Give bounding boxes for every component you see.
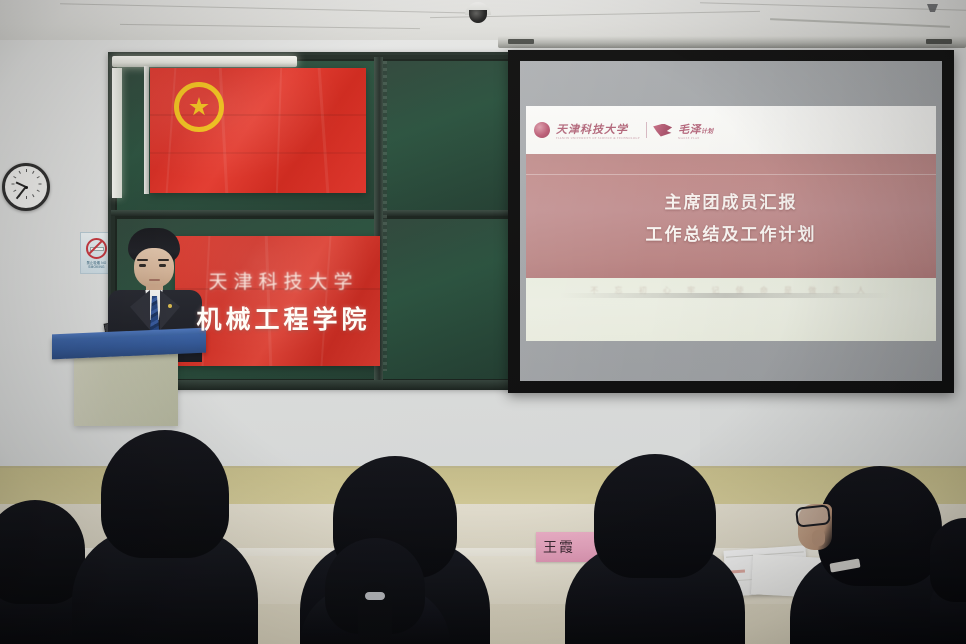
wall-clock [2,163,50,211]
flag-fold [318,68,330,193]
presenter-brow [137,259,148,261]
fluorescent-tube-light-vertical [112,68,122,198]
hair-tie [365,592,385,600]
clock-center-pin [25,186,28,189]
clock-tick [13,190,16,192]
ceiling-seam [120,24,420,29]
flag-fold [166,68,177,193]
attendee-silhouette [72,430,258,644]
youth-league-flag [150,68,366,193]
slide-bottom-shadow [560,293,890,298]
clock-tick [37,190,40,192]
projection-screen: 天津科技大学 TIANJIN UNIVERSITY OF SCIENCE & T… [508,50,954,393]
slide-footer-band: 不 忘 初 心 牢 记 使 命 是 做 走 人 [526,278,936,341]
presenter-lapel-pin [168,304,172,308]
clock-tick [26,196,27,199]
classroom-photo: 禁止吸烟 NO SMOKING 天津科技大学 机械工程学院 [0,0,966,644]
star-glyph [189,97,209,117]
flag-edge-clip [144,66,149,194]
university-name-sub: TIANJIN UNIVERSITY OF SCIENCE & TECHNOLO… [556,137,640,140]
presenter-eye [139,264,146,267]
attendee-silhouette [565,448,745,644]
attendee-with-ponytail [300,532,450,644]
blackboard-panel [381,217,511,381]
clock-tick [32,194,34,197]
podium-body [74,352,178,426]
blackboard-slide-track[interactable] [383,61,387,371]
university-logo-text: 天津科技大学 TIANJIN UNIVERSITY OF SCIENCE & T… [556,121,640,140]
clock-tick [26,169,27,172]
slide-title-block: 主席团成员汇报 工作总结及工作计划 [526,188,936,245]
clock-tick [13,176,16,178]
eyeglasses-icon [795,504,831,527]
slide-title-line-2: 工作总结及工作计划 [646,220,817,245]
clock-tick [39,184,42,185]
presenter-brow [158,259,169,261]
screen-roller-housing [498,36,966,48]
ceiling-seam [60,3,480,14]
presentation-slide: 天津科技大学 TIANJIN UNIVERSITY OF SCIENCE & T… [526,106,936,341]
slide-hairline [526,174,936,175]
program-name: 毛泽 [678,124,701,136]
presenter-mouth [149,279,160,281]
attendee-head [930,518,966,602]
fluorescent-tube-light [112,56,297,67]
university-name: 天津科技大学 [556,124,628,136]
logo-divider [646,122,647,138]
slide-logo-row: 天津科技大学 TIANJIN UNIVERSITY OF SCIENCE & T… [534,121,713,140]
blackboard-panel [381,59,511,217]
attendee-silhouette [930,504,966,644]
attendee-ear [812,530,825,546]
program-name-sub: MAOZE PLAN [678,137,713,140]
clock-tick [32,171,34,174]
slide-header: 天津科技大学 TIANJIN UNIVERSITY OF SCIENCE & T… [526,106,936,154]
presenter-eye [159,264,166,267]
attendee-head [594,454,716,578]
ceiling-seam [700,2,966,10]
banner-college-name: 机械工程学院 [196,300,370,336]
presenter-face [134,248,174,288]
projection-surface: 天津科技大学 TIANJIN UNIVERSITY OF SCIENCE & T… [520,61,942,381]
slide-title-line-1: 主席团成员汇报 [665,188,798,213]
clock-tick [37,176,40,178]
slide-title-band: 主席团成员汇报 工作总结及工作计划 [526,154,936,278]
clock-tick [12,184,15,185]
housing-endcap [508,39,534,44]
blackboard-rail [111,210,509,216]
university-seal-icon [534,122,550,138]
youth-league-star-icon [174,82,224,132]
housing-endcap [926,39,952,44]
flag-fold [219,68,229,193]
program-logo-text: 毛泽计划 MAOZE PLAN [678,121,713,140]
clock-tick [19,171,21,174]
banner-university-name: 天津科技大学 [208,267,358,294]
brush-stroke-icon [653,124,672,137]
attendee-head [101,430,229,558]
flag-fold [150,152,366,154]
flag-fold [276,68,282,193]
program-suffix: 计划 [701,129,713,135]
